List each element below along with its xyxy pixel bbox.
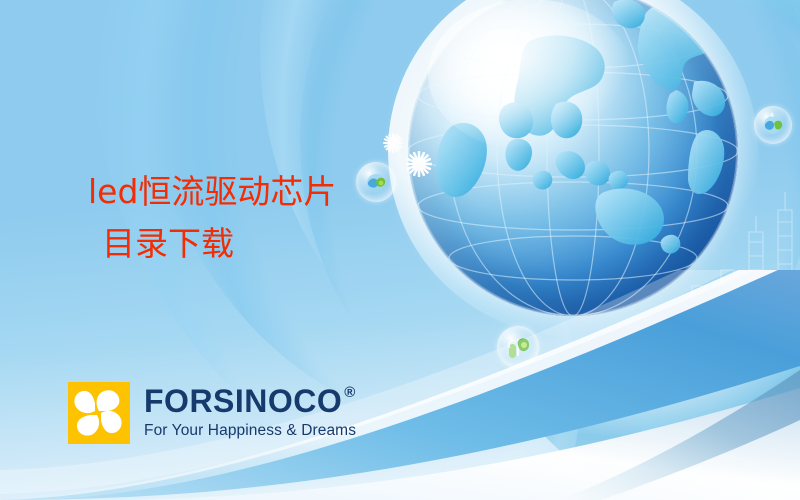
globe-rim <box>408 0 738 316</box>
pinwheel-petals <box>68 382 130 444</box>
logo-brand-name: FORSINOCO <box>144 384 342 418</box>
logo-text-block: FORSINOCO ® For Your Happiness & Dreams <box>144 384 356 441</box>
bubble-globe-icon <box>754 106 792 144</box>
brand-logo: FORSINOCO ® For Your Happiness & Dreams <box>68 382 356 444</box>
sparkle-icon <box>406 151 432 177</box>
logo-wordmark: FORSINOCO ® <box>144 384 356 418</box>
registered-trademark-icon: ® <box>344 385 356 400</box>
logo-tagline: For Your Happiness & Dreams <box>144 421 356 441</box>
sparkle-icon <box>383 133 403 153</box>
bubble-inner-globe <box>754 106 792 144</box>
bubble-globe-icon <box>356 162 396 202</box>
bubble-inner-globe <box>356 162 396 202</box>
headline-line-1: led恒流驱动芯片 <box>88 166 336 218</box>
four-petal-pinwheel-icon <box>68 382 130 444</box>
headline-line-2: 目录下载 <box>88 218 336 270</box>
headline: led恒流驱动芯片 目录下载 <box>88 166 336 270</box>
globe-icon <box>408 0 738 316</box>
promo-banner: led恒流驱动芯片 目录下载 FORSINOCO ® For Your Happ… <box>0 0 800 500</box>
